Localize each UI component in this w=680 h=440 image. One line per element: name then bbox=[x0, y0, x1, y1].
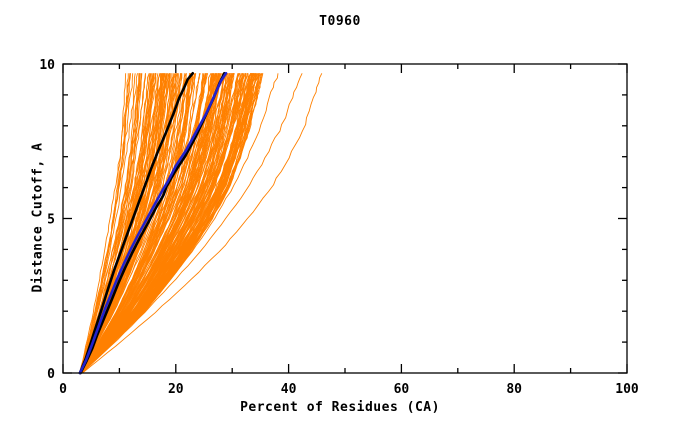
x-tick-label: 80 bbox=[506, 382, 522, 397]
x-tick-label: 0 bbox=[59, 382, 67, 397]
y-tick-label: 0 bbox=[47, 367, 55, 382]
y-tick-label: 5 bbox=[47, 213, 55, 228]
x-tick-label: 20 bbox=[168, 382, 184, 397]
y-tick-label: 10 bbox=[39, 58, 55, 73]
x-tick-label: 40 bbox=[281, 382, 297, 397]
x-tick-label: 60 bbox=[394, 382, 410, 397]
x-tick-label: 100 bbox=[615, 382, 639, 397]
plot-svg: 0204060801000510 bbox=[0, 0, 680, 440]
figure-container: T0960 Distance Cutoff, A Percent of Resi… bbox=[0, 0, 680, 440]
prediction-curves-layer bbox=[80, 73, 322, 373]
